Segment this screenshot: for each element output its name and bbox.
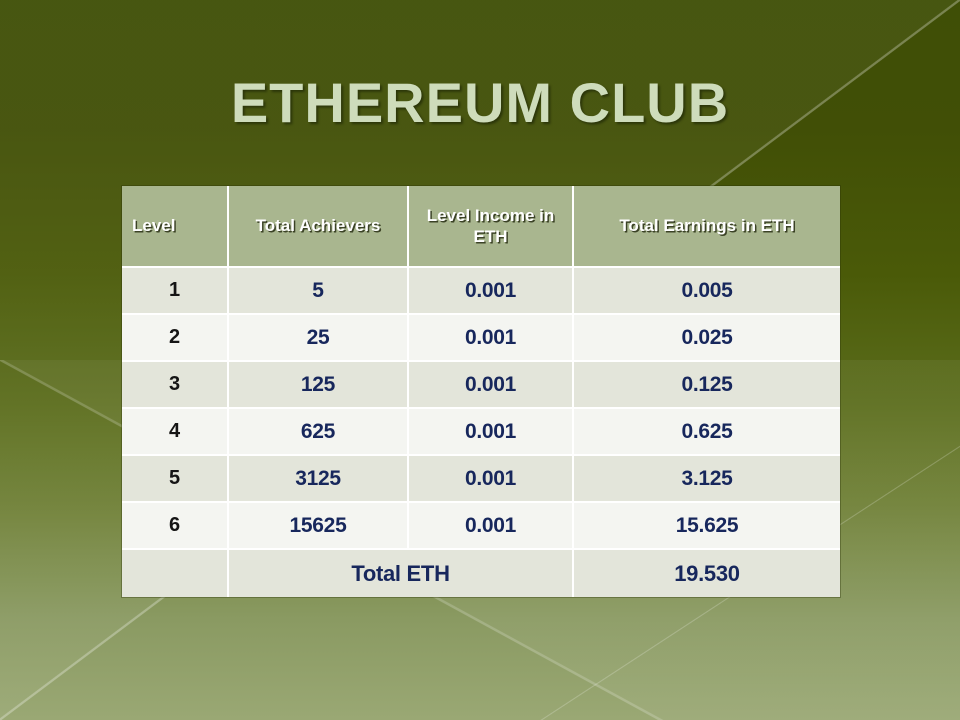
table-row: 6 15625 0.001 15.625 — [122, 502, 840, 549]
earnings-table: Level Total Achievers Level Income in ET… — [122, 186, 840, 597]
cell-total-empty — [122, 549, 228, 597]
slide-canvas: ETHEREUM CLUB Level Total Achievers Leve… — [0, 0, 960, 720]
cell-level-income: 0.001 — [408, 408, 573, 455]
cell-total-achievers: 125 — [228, 361, 408, 408]
column-header-level: Level — [122, 186, 228, 267]
cell-total-achievers: 3125 — [228, 455, 408, 502]
cell-total-achievers: 25 — [228, 314, 408, 361]
cell-level-income: 0.001 — [408, 314, 573, 361]
cell-level: 2 — [122, 314, 228, 361]
cell-level-income: 0.001 — [408, 455, 573, 502]
table-header: Level Total Achievers Level Income in ET… — [122, 186, 840, 267]
cell-level-income: 0.001 — [408, 361, 573, 408]
cell-total-earnings: 0.025 — [573, 314, 840, 361]
column-header-level-income: Level Income in ETH — [408, 186, 573, 267]
table-total-row: Total ETH 19.530 — [122, 549, 840, 597]
cell-total-earnings: 0.005 — [573, 267, 840, 314]
column-header-total-earnings: Total Earnings in ETH — [573, 186, 840, 267]
cell-total-achievers: 15625 — [228, 502, 408, 549]
cell-level-income: 0.001 — [408, 267, 573, 314]
cell-total-label: Total ETH — [228, 549, 573, 597]
table-row: 2 25 0.001 0.025 — [122, 314, 840, 361]
cell-level: 6 — [122, 502, 228, 549]
cell-level: 5 — [122, 455, 228, 502]
table-row: 1 5 0.001 0.005 — [122, 267, 840, 314]
table-row: 5 3125 0.001 3.125 — [122, 455, 840, 502]
cell-level: 3 — [122, 361, 228, 408]
cell-total-value: 19.530 — [573, 549, 840, 597]
cell-total-achievers: 625 — [228, 408, 408, 455]
cell-total-earnings: 0.125 — [573, 361, 840, 408]
cell-total-earnings: 0.625 — [573, 408, 840, 455]
cell-total-achievers: 5 — [228, 267, 408, 314]
table-header-row: Level Total Achievers Level Income in ET… — [122, 186, 840, 267]
cell-level-income: 0.001 — [408, 502, 573, 549]
cell-total-earnings: 3.125 — [573, 455, 840, 502]
column-header-total-achievers: Total Achievers — [228, 186, 408, 267]
table-row: 3 125 0.001 0.125 — [122, 361, 840, 408]
earnings-table-container: Level Total Achievers Level Income in ET… — [122, 186, 840, 597]
cell-level: 1 — [122, 267, 228, 314]
page-title: ETHEREUM CLUB — [0, 74, 960, 133]
cell-total-earnings: 15.625 — [573, 502, 840, 549]
table-row: 4 625 0.001 0.625 — [122, 408, 840, 455]
table-body: 1 5 0.001 0.005 2 25 0.001 0.025 3 125 0… — [122, 267, 840, 597]
cell-level: 4 — [122, 408, 228, 455]
